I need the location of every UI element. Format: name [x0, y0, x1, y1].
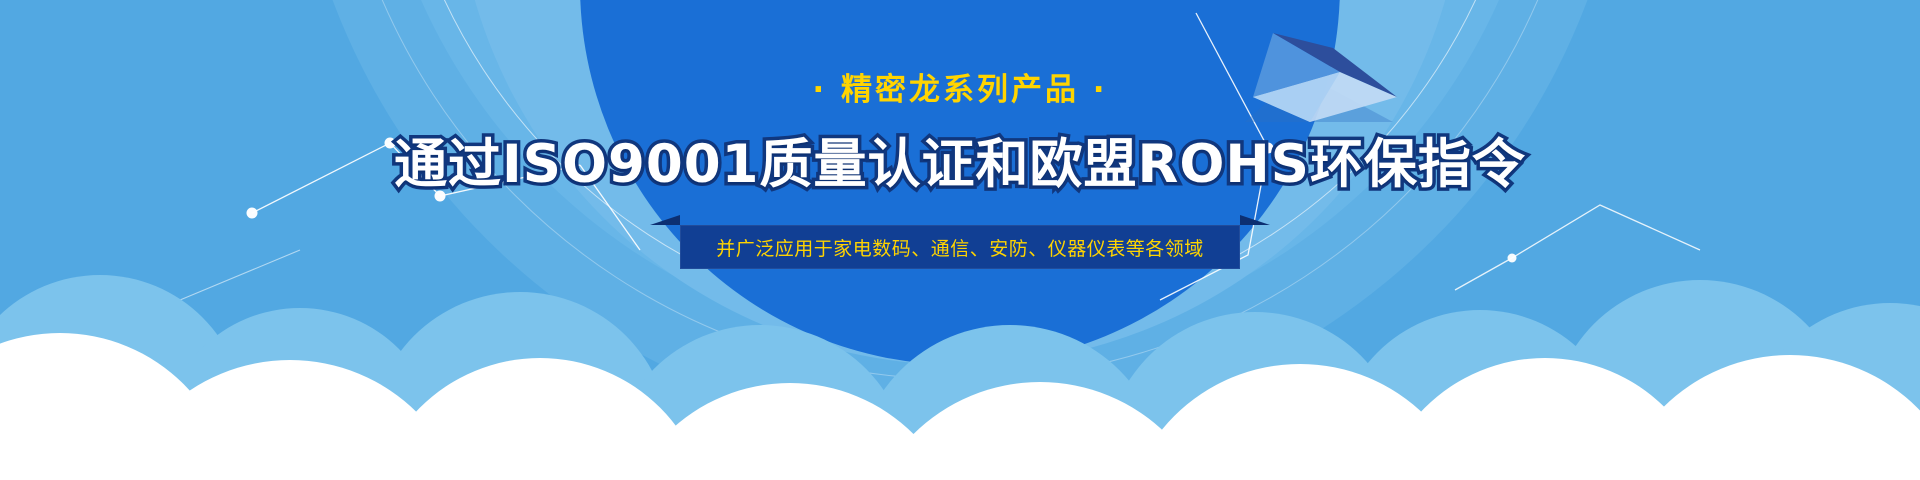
banner-eyebrow: · 精密龙系列产品 ·: [812, 75, 1107, 106]
banner-content: · 精密龙系列产品 · 通过ISO9001质量认证和欧盟ROHS环保指令 并广泛…: [0, 0, 1920, 480]
subtitle-ribbon: 并广泛应用于家电数码、通信、安防、仪器仪表等各领域: [680, 225, 1240, 269]
page-title: 通过ISO9001质量认证和欧盟ROHS环保指令: [394, 136, 1526, 193]
promo-banner: · 精密龙系列产品 · 通过ISO9001质量认证和欧盟ROHS环保指令 并广泛…: [0, 0, 1920, 480]
ribbon-tail-left-icon: [650, 215, 680, 225]
subtitle-text: 并广泛应用于家电数码、通信、安防、仪器仪表等各领域: [716, 234, 1204, 261]
ribbon-tail-right-icon: [1240, 215, 1270, 225]
